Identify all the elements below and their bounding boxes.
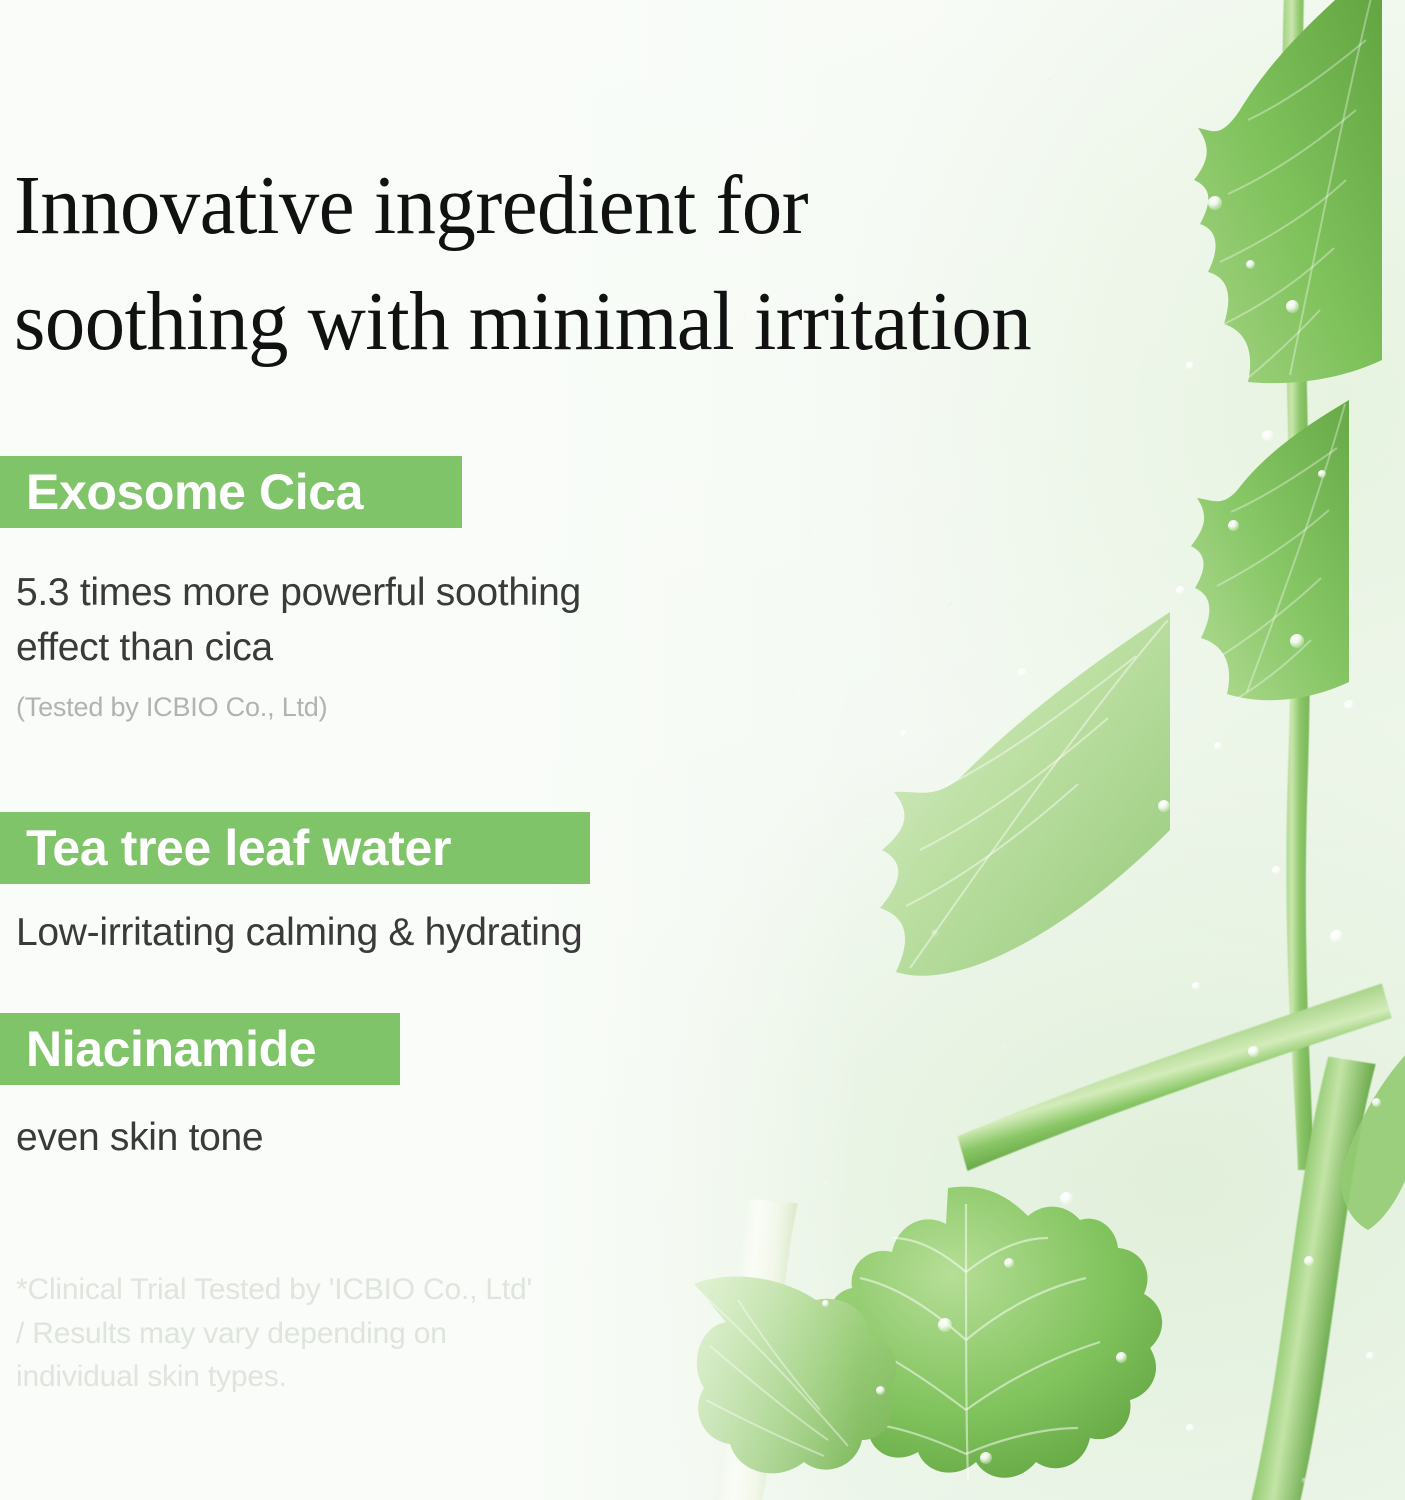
ingredient-description-niacinamide: even skin tone: [16, 1110, 796, 1165]
ingredient-tag-tea-tree-leaf-water: Tea tree leaf water: [0, 812, 590, 884]
ingredient-tag-niacinamide: Niacinamide: [0, 1013, 400, 1085]
ingredient-description-tea-tree-leaf-water: Low-irritating calming & hydrating: [16, 905, 796, 960]
page-title: Innovative ingredient for soothing with …: [14, 148, 1252, 380]
ingredient-tag-exosome-cica: Exosome Cica: [0, 456, 462, 528]
headline-line-2: soothing with minimal irritation: [14, 264, 1252, 380]
product-ingredient-banner: Innovative ingredient for soothing with …: [0, 0, 1405, 1500]
ingredient-description-exosome-cica: 5.3 times more powerful soothing effect …: [16, 565, 796, 676]
headline-line-1: Innovative ingredient for: [14, 148, 1252, 264]
clinical-trial-footnote: *Clinical Trial Tested by 'ICBIO Co., Lt…: [16, 1268, 532, 1399]
ingredient-note-exosome-cica: (Tested by ICBIO Co., Ltd): [16, 692, 327, 723]
